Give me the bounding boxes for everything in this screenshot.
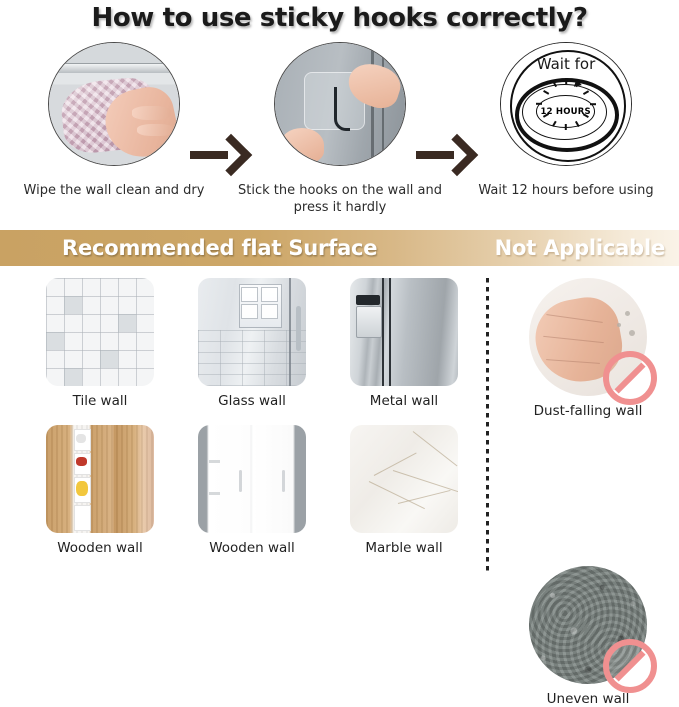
tile-wall-label: Tile wall <box>25 393 175 409</box>
marble-vein <box>374 452 417 475</box>
wait-12-hours-clock-illustration: Wait for 12 <box>500 42 632 166</box>
clock-artwork: Wait for 12 <box>501 43 631 165</box>
arrow-head <box>436 134 478 176</box>
wipe-wall-artwork <box>49 43 179 165</box>
marble-vein <box>369 481 425 509</box>
dust-speck <box>625 311 630 316</box>
window-pane <box>261 304 278 319</box>
step-2: Stick the hooks on the wall and press it… <box>240 42 440 166</box>
step-1-caption: Wipe the wall clean and dry <box>9 182 219 199</box>
tile-shade <box>46 332 64 350</box>
tile-shade <box>100 350 118 368</box>
dust-speck <box>629 330 635 336</box>
step-1: Wipe the wall clean and dry <box>14 42 214 166</box>
white-cabinet-texture <box>198 425 306 533</box>
water-dispenser-shape <box>356 306 382 338</box>
clock-center-label: 12 HOURS <box>541 107 591 117</box>
surface-item-glass-wall: Glass wall <box>177 278 327 409</box>
marble-vein <box>397 490 450 504</box>
stick-hook-artwork <box>275 43 405 165</box>
stick-hook-on-wall-photo <box>274 42 406 166</box>
finger-shape <box>132 106 171 119</box>
shelf-compartment <box>74 505 91 531</box>
surface-item-tile-wall: Tile wall <box>25 278 175 409</box>
tile-shade <box>118 314 136 332</box>
surface-item-wooden-wall-2: Wooden wall <box>177 425 327 556</box>
wall-rail-shape <box>49 63 179 73</box>
tile-shade <box>64 368 82 386</box>
surface-item-dust-falling-wall: Dust-falling wall <box>513 278 663 419</box>
wooden-wall-label-1: Wooden wall <box>25 540 175 556</box>
dust-falling-wall-label: Dust-falling wall <box>513 403 663 419</box>
uneven-wall-label: Uneven wall <box>513 691 663 707</box>
cabinet-handle <box>282 470 285 492</box>
fridge-seam <box>382 278 384 386</box>
surface-item-metal-wall: Metal wall <box>329 278 479 409</box>
instruction-steps: Wipe the wall clean and dry Stick the ho… <box>0 42 679 217</box>
prohibition-icon <box>603 639 657 693</box>
wipe-wall-with-cloth-photo <box>48 42 180 166</box>
step-2-caption: Stick the hooks on the wall and press it… <box>235 182 445 216</box>
lower-hand-shape <box>280 128 324 162</box>
glass-wall-label: Glass wall <box>177 393 327 409</box>
marble-vein <box>412 432 457 467</box>
window-pane <box>241 287 258 302</box>
step-1-image-frame <box>48 42 180 166</box>
clock-tick <box>565 78 567 84</box>
toy-object <box>76 457 87 466</box>
glass-texture <box>198 278 306 386</box>
surface-item-uneven-wall: Uneven wall <box>513 566 663 707</box>
shower-fixture-shape <box>296 306 301 351</box>
glass-wall-thumbnail <box>198 278 306 386</box>
step-3-caption: Wait 12 hours before using <box>461 182 671 199</box>
arrow-right-icon <box>416 138 474 172</box>
surface-grid: Tile wall Glass wall <box>0 270 679 581</box>
clock-top-label: Wait for <box>501 55 631 73</box>
tile-wall-thumbnail <box>46 278 154 386</box>
prohibition-icon <box>603 351 657 405</box>
metal-wall-label: Metal wall <box>329 393 479 409</box>
arrow-head <box>210 134 252 176</box>
dispenser-screen <box>356 295 380 305</box>
page-title: How to use sticky hooks correctly? <box>0 3 679 33</box>
shelf-line <box>209 460 220 463</box>
section-divider <box>486 278 489 574</box>
metal-wall-thumbnail <box>350 278 458 386</box>
fridge-seam <box>389 278 391 386</box>
banner-recommended-title: Recommended flat Surface <box>62 236 377 260</box>
marble-wall-label: Marble wall <box>329 540 479 556</box>
wood-texture <box>46 425 154 533</box>
glass-door-edge <box>289 278 291 386</box>
surface-banner: Recommended flat Surface Not Applicable <box>0 230 679 266</box>
toy-object <box>76 434 86 444</box>
surface-item-wooden-wall-1: Wooden wall <box>25 425 175 556</box>
white-cabinet-thumbnail <box>198 425 306 533</box>
tile-shade <box>64 296 82 314</box>
step-3: Wait for 12 <box>466 42 666 166</box>
shelf-line <box>209 492 220 495</box>
surface-item-marble-wall: Marble wall <box>329 425 479 556</box>
wooden-wall-thumbnail <box>46 425 154 533</box>
banner-not-applicable-title: Not Applicable <box>495 236 665 260</box>
toy-object <box>76 481 88 496</box>
finger-shape <box>137 124 173 136</box>
wooden-wall-label-2: Wooden wall <box>177 540 327 556</box>
step-2-image-frame <box>274 42 406 166</box>
clock-center-badge: 12 HOURS <box>536 95 595 128</box>
metal-texture <box>350 278 458 386</box>
window-pane <box>241 304 258 319</box>
cabinet-handle <box>239 470 242 492</box>
marble-wall-thumbnail <box>350 425 458 533</box>
marble-texture <box>350 425 458 533</box>
dust-speck <box>617 323 621 327</box>
hook-icon <box>334 94 350 131</box>
arrow-right-icon <box>190 138 248 172</box>
window-pane <box>261 287 278 302</box>
step-3-image-frame: Wait for 12 <box>500 42 632 166</box>
tile-texture <box>46 278 154 386</box>
